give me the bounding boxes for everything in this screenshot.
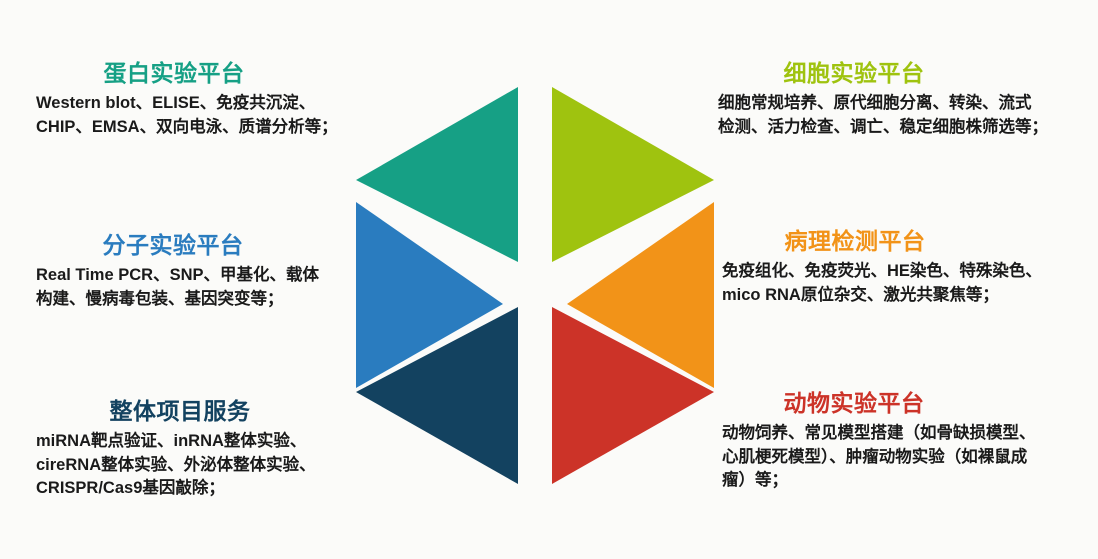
desc-line: CHIP、EMSA、双向电泳、质谱分析等； [36,116,386,139]
section-animal: 动物实验平台 动物饲养、常见模型搭建（如骨缺损模型、 心肌梗死模型）、肿瘤动物实… [722,390,1072,492]
section-cell-desc: 细胞常规培养、原代细胞分离、转染、流式 检测、活力检查、调亡、稳定细胞株筛选等； [718,92,1078,139]
section-protein-desc: Western blot、ELISE、免疫共沉淀、 CHIP、EMSA、双向电泳… [36,92,386,139]
section-protein: 蛋白实验平台 Western blot、ELISE、免疫共沉淀、 CHIP、EM… [36,60,386,139]
desc-line: 瘤）等； [722,469,1072,492]
desc-line: mico RNA原位杂交、激光共聚焦等； [722,284,1062,307]
section-protein-title: 蛋白实验平台 [36,60,386,87]
desc-line: 免疫组化、免疫荧光、HE染色、特殊染色、 [722,260,1062,283]
desc-line: 细胞常规培养、原代细胞分离、转染、流式 [718,92,1078,115]
section-animal-title: 动物实验平台 [722,390,1072,417]
desc-line: Western blot、ELISE、免疫共沉淀、 [36,92,386,115]
desc-line: 动物饲养、常见模型搭建（如骨缺损模型、 [722,422,1072,445]
section-molecule-desc: Real Time PCR、SNP、甲基化、载体 构建、慢病毒包装、基因突变等； [36,264,366,311]
section-overall-desc: miRNA靶点验证、inRNA整体实验、 cireRNA整体实验、外泌体整体实验… [36,430,366,500]
desc-line: CRISPR/Cas9基因敲除； [36,477,366,500]
section-cell-title: 细胞实验平台 [718,60,1078,87]
desc-line: 构建、慢病毒包装、基因突变等； [36,288,366,311]
infographic-canvas: 蛋白实验平台 Western blot、ELISE、免疫共沉淀、 CHIP、EM… [0,0,1098,559]
section-pathology-title: 病理检测平台 [722,228,1062,255]
desc-line: Real Time PCR、SNP、甲基化、载体 [36,264,366,287]
section-pathology: 病理检测平台 免疫组化、免疫荧光、HE染色、特殊染色、 mico RNA原位杂交… [722,228,1062,307]
hex-segment-cell[interactable] [552,87,714,262]
section-molecule-title: 分子实验平台 [36,232,366,259]
section-pathology-desc: 免疫组化、免疫荧光、HE染色、特殊染色、 mico RNA原位杂交、激光共聚焦等… [722,260,1062,307]
section-overall-title: 整体项目服务 [36,398,366,425]
desc-line: 心肌梗死模型）、肿瘤动物实验（如裸鼠成 [722,446,1072,469]
section-overall: 整体项目服务 miRNA靶点验证、inRNA整体实验、 cireRNA整体实验、… [36,398,366,500]
section-animal-desc: 动物饲养、常见模型搭建（如骨缺损模型、 心肌梗死模型）、肿瘤动物实验（如裸鼠成 … [722,422,1072,492]
hex-segment-pathology[interactable] [567,202,714,388]
section-cell: 细胞实验平台 细胞常规培养、原代细胞分离、转染、流式 检测、活力检查、调亡、稳定… [718,60,1078,139]
hex-segment-overall[interactable] [356,307,518,484]
desc-line: cireRNA整体实验、外泌体整体实验、 [36,454,366,477]
section-molecule: 分子实验平台 Real Time PCR、SNP、甲基化、载体 构建、慢病毒包装… [36,232,366,311]
hex-segment-animal[interactable] [552,307,714,484]
desc-line: miRNA靶点验证、inRNA整体实验、 [36,430,366,453]
hex-segment-molecule[interactable] [356,202,503,388]
desc-line: 检测、活力检查、调亡、稳定细胞株筛选等； [718,116,1078,139]
